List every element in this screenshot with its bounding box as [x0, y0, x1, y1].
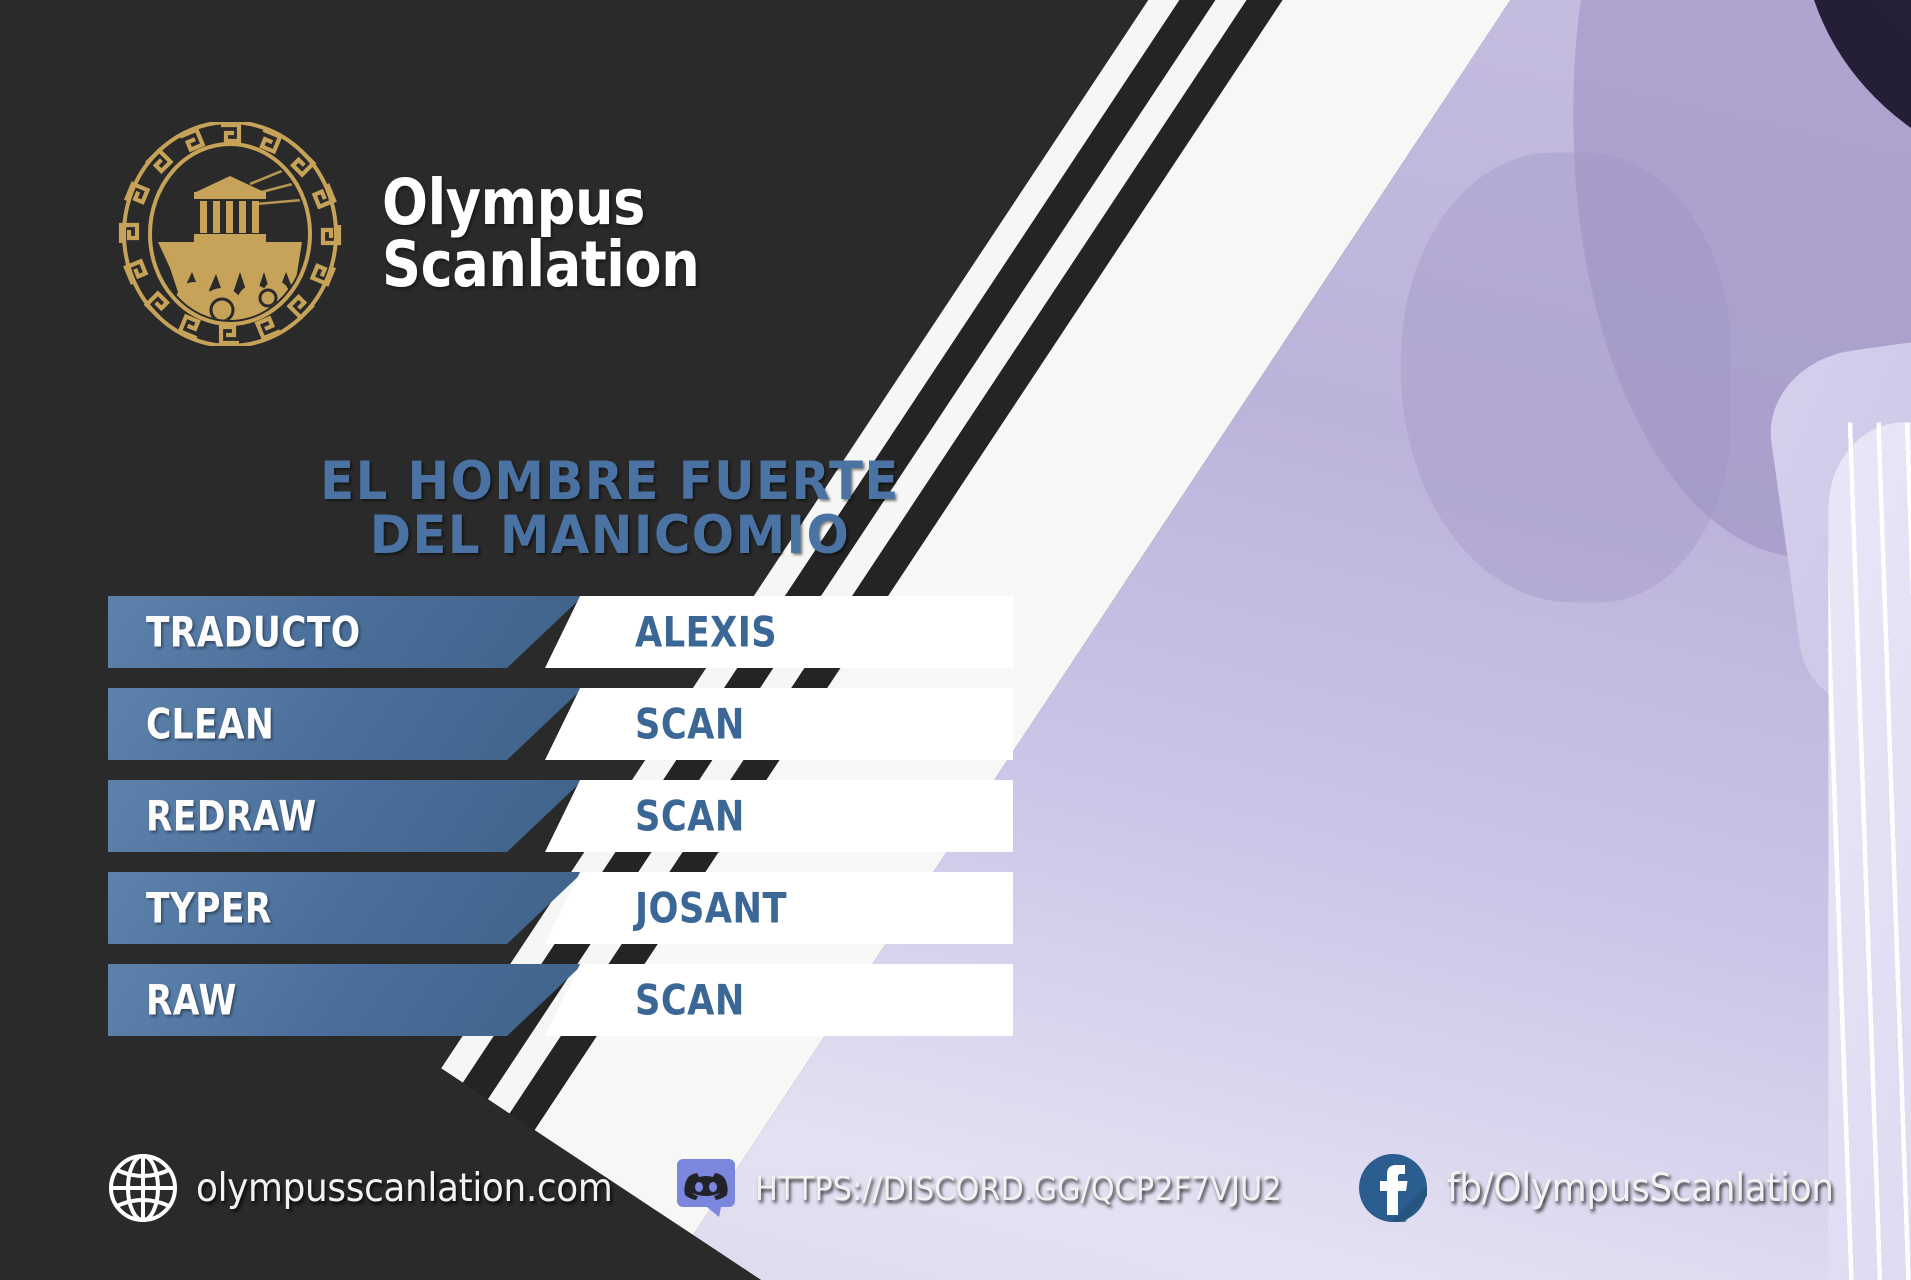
credit-row: RAW SCAN [0, 964, 1060, 1036]
credit-role-bar: TRADUCTO [108, 596, 583, 668]
facebook-link[interactable]: fb/OlympusScanlation [1327, 1152, 1867, 1224]
globe-icon [104, 1149, 182, 1227]
credit-role-bar: CLEAN [108, 688, 583, 760]
credit-name-bar: SCAN [545, 688, 1013, 760]
credit-row: REDRAW SCAN [0, 780, 1060, 852]
credit-name-bar: SCAN [545, 780, 1013, 852]
footer-links: olympusscanlation.com HTTPS://DISCORD.GG… [104, 1136, 1867, 1240]
discord-link[interactable]: HTTPS://DISCORD.GG/QCP2F7VJU2 [649, 1157, 1327, 1219]
discord-icon [675, 1157, 737, 1219]
credit-role-label: RAW [146, 976, 237, 1025]
credit-name-label: SCAN [635, 792, 745, 841]
credit-name-bar: JOSANT [545, 872, 1013, 944]
brand-header: Olympus Scanlation [118, 122, 751, 346]
discord-label: HTTPS://DISCORD.GG/QCP2F7VJU2 [755, 1169, 1282, 1208]
credit-name-label: SCAN [635, 976, 745, 1025]
credit-role-label: CLEAN [146, 700, 274, 749]
credits-list: TRADUCTO ALEXIS CLEAN SCAN REDRAW SCAN [0, 596, 1060, 1056]
credit-name-label: SCAN [635, 700, 745, 749]
credit-name-label: JOSANT [635, 884, 787, 933]
website-label: olympusscanlation.com [196, 1166, 612, 1211]
credit-role-label: REDRAW [146, 792, 317, 841]
facebook-label: fb/OlympusScanlation [1447, 1166, 1834, 1211]
brand-name: Olympus Scanlation [382, 172, 699, 295]
credit-name-label: ALEXIS [635, 608, 777, 657]
credit-row: TRADUCTO ALEXIS [0, 596, 1060, 668]
credit-name-bar: SCAN [545, 964, 1013, 1036]
facebook-icon [1357, 1152, 1429, 1224]
credit-name-bar: ALEXIS [545, 596, 1013, 668]
credit-role-label: TRADUCTO [146, 608, 361, 657]
credit-row: TYPER JOSANT [0, 872, 1060, 944]
credit-role-bar: TYPER [108, 872, 583, 944]
page-title: EL HOMBRE FUERTE DEL MANICOMIO [272, 455, 949, 563]
greek-temple-medallion-icon [118, 122, 342, 346]
credit-row: CLEAN SCAN [0, 688, 1060, 760]
credits-page: Olympus Scanlation EL HOMBRE FUERTE DEL … [0, 0, 1911, 1280]
credit-role-bar: RAW [108, 964, 583, 1036]
credit-role-bar: REDRAW [108, 780, 583, 852]
website-link[interactable]: olympusscanlation.com [104, 1149, 649, 1227]
credit-role-label: TYPER [146, 884, 272, 933]
